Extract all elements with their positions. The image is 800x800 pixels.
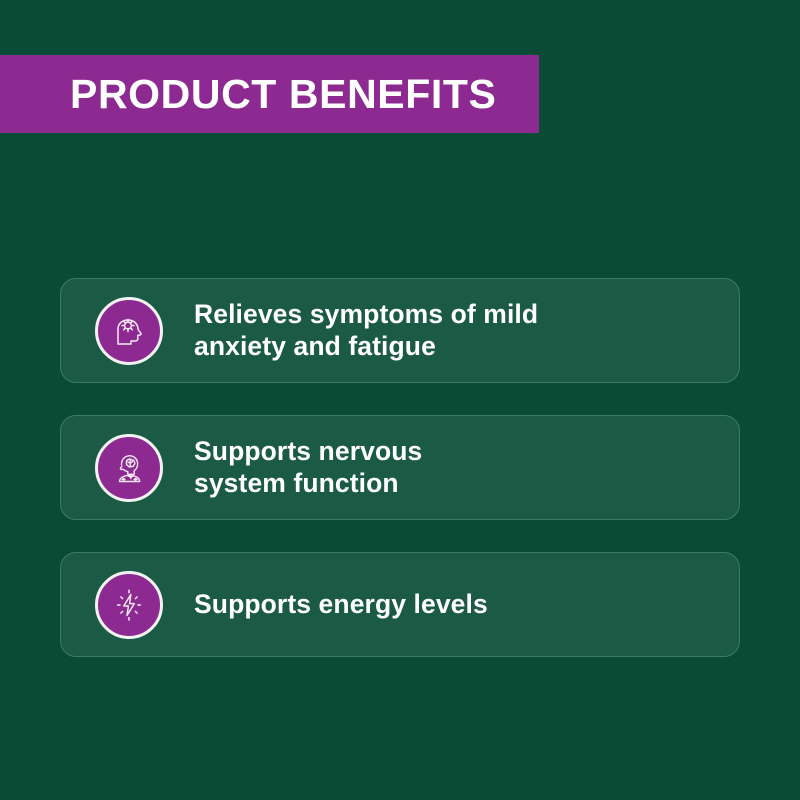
benefit-card-energy-levels[interactable]: Supports energy levels: [60, 552, 740, 657]
page-title: PRODUCT BENEFITS: [70, 74, 496, 115]
benefit-card-anxiety-fatigue[interactable]: Relieves symptoms of mild anxiety and fa…: [60, 278, 740, 383]
header-banner: PRODUCT BENEFITS: [0, 55, 539, 133]
head-with-gear-icon: [95, 297, 163, 365]
benefit-text: Supports nervous system function: [194, 436, 422, 499]
benefit-text: Supports energy levels: [194, 589, 488, 620]
nervous-system-bust-icon: [95, 434, 163, 502]
benefit-card-nervous-system[interactable]: Supports nervous system function: [60, 415, 740, 520]
benefit-text: Relieves symptoms of mild anxiety and fa…: [194, 299, 538, 362]
lightning-bolt-energy-icon: [95, 571, 163, 639]
product-benefits-panel: PRODUCT BENEFITS Relieves symptoms of mi…: [0, 0, 800, 800]
benefits-list: Relieves symptoms of mild anxiety and fa…: [60, 278, 740, 689]
